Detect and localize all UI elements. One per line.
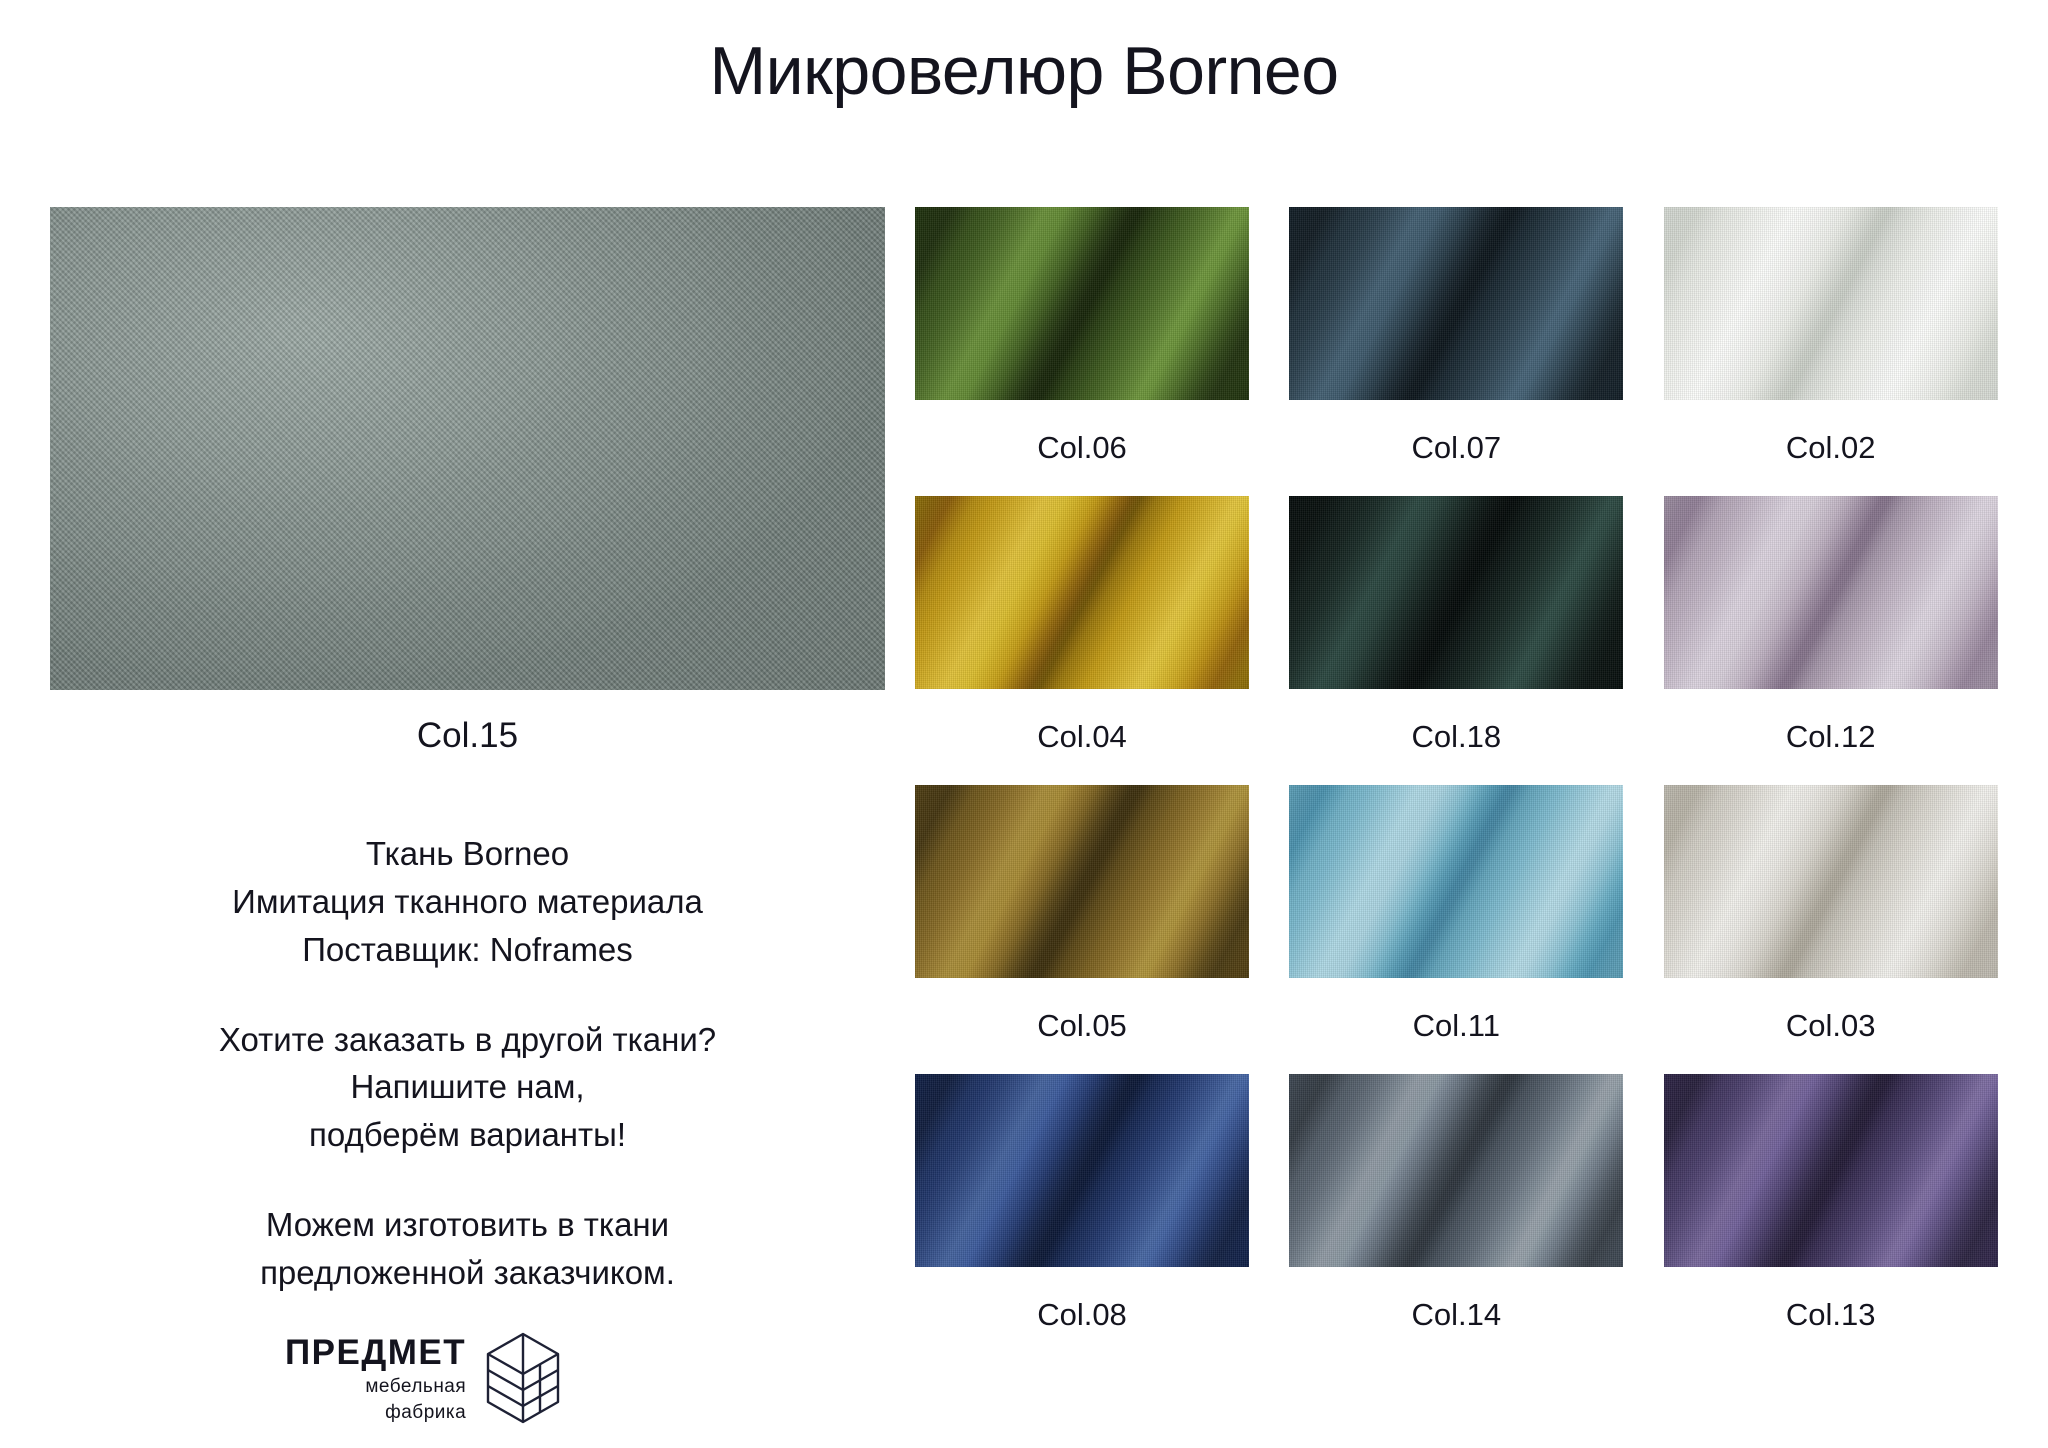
weave-overlay bbox=[1289, 496, 1623, 689]
spacer bbox=[50, 974, 885, 1016]
weave-overlay bbox=[1664, 785, 1998, 978]
weave-overlay bbox=[1289, 207, 1623, 400]
fabric-swatch[interactable] bbox=[1289, 496, 1623, 689]
swatch-cell: Col.03 bbox=[1664, 785, 1998, 1074]
fabric-swatch[interactable] bbox=[915, 207, 1249, 400]
fabric-swatch[interactable] bbox=[1664, 496, 1998, 689]
swatch-cell: Col.08 bbox=[915, 1074, 1249, 1363]
weave-overlay bbox=[915, 785, 1249, 978]
swatch-label: Col.12 bbox=[1664, 689, 1998, 785]
swatch-label: Col.18 bbox=[1289, 689, 1623, 785]
weave-overlay bbox=[1289, 785, 1623, 978]
swatch-label: Col.14 bbox=[1289, 1267, 1623, 1363]
fabric-swatch[interactable] bbox=[915, 1074, 1249, 1267]
weave-overlay bbox=[1664, 1074, 1998, 1267]
description-line-1: Ткань Borneo bbox=[50, 830, 885, 878]
logo-tagline-line-1: мебельная bbox=[285, 1377, 466, 1396]
swatch-cell: Col.06 bbox=[915, 207, 1249, 496]
hero-fabric-swatch[interactable] bbox=[50, 207, 885, 690]
logo-wordmark: ПРЕДМЕТ мебельная фабрика bbox=[285, 1335, 466, 1422]
swatch-cell: Col.11 bbox=[1289, 785, 1623, 1074]
description-line-7: Можем изготовить в ткани bbox=[50, 1201, 885, 1249]
description-line-5: Напишите нам, bbox=[50, 1063, 885, 1111]
swatch-label: Col.06 bbox=[915, 400, 1249, 496]
hero-swatch-label: Col.15 bbox=[50, 716, 885, 756]
description-line-3: Поставщик: Noframes bbox=[50, 926, 885, 974]
description-block: Ткань Borneo Имитация тканного материала… bbox=[50, 830, 885, 1297]
swatch-label: Col.04 bbox=[915, 689, 1249, 785]
fabric-swatch[interactable] bbox=[915, 785, 1249, 978]
swatch-label: Col.07 bbox=[1289, 400, 1623, 496]
swatch-cell: Col.04 bbox=[915, 496, 1249, 785]
fabric-swatch[interactable] bbox=[1289, 1074, 1623, 1267]
fabric-catalog-page: Микровелюр Borneo Col.15 Ткань Borneo Им… bbox=[0, 0, 2048, 1448]
weave-overlay bbox=[915, 207, 1249, 400]
fabric-swatch[interactable] bbox=[1664, 1074, 1998, 1267]
swatch-cell: Col.05 bbox=[915, 785, 1249, 1074]
company-logo: ПРЕДМЕТ мебельная фабрика bbox=[285, 1330, 562, 1426]
swatch-label: Col.11 bbox=[1289, 978, 1623, 1074]
description-line-6: подберём варианты! bbox=[50, 1111, 885, 1159]
description-line-4: Хотите заказать в другой ткани? bbox=[50, 1016, 885, 1064]
weave-overlay bbox=[1664, 207, 1998, 400]
hero-weave-overlay bbox=[50, 207, 885, 690]
fabric-swatch[interactable] bbox=[1289, 207, 1623, 400]
weave-overlay bbox=[1289, 1074, 1623, 1267]
swatch-label: Col.05 bbox=[915, 978, 1249, 1074]
page-title: Микровелюр Borneo bbox=[0, 34, 2048, 109]
logo-tagline-line-2: фабрика bbox=[285, 1403, 466, 1422]
description-line-2: Имитация тканного материала bbox=[50, 878, 885, 926]
logo-brand-name: ПРЕДМЕТ bbox=[285, 1335, 466, 1370]
description-line-8: предложенной заказчиком. bbox=[50, 1249, 885, 1297]
fabric-swatch[interactable] bbox=[1289, 785, 1623, 978]
swatch-cell: Col.07 bbox=[1289, 207, 1623, 496]
weave-overlay bbox=[915, 496, 1249, 689]
swatch-label: Col.13 bbox=[1664, 1267, 1998, 1363]
swatch-cell: Col.13 bbox=[1664, 1074, 1998, 1363]
swatch-cell: Col.14 bbox=[1289, 1074, 1623, 1363]
hero-swatch-block: Col.15 bbox=[50, 207, 885, 756]
swatch-cell: Col.12 bbox=[1664, 496, 1998, 785]
spacer bbox=[50, 1159, 885, 1201]
fabric-swatch[interactable] bbox=[1664, 785, 1998, 978]
swatch-label: Col.02 bbox=[1664, 400, 1998, 496]
isometric-shelf-icon bbox=[484, 1330, 562, 1426]
swatch-cell: Col.18 bbox=[1289, 496, 1623, 785]
fabric-swatch[interactable] bbox=[915, 496, 1249, 689]
swatch-cell: Col.02 bbox=[1664, 207, 1998, 496]
swatch-label: Col.03 bbox=[1664, 978, 1998, 1074]
weave-overlay bbox=[1664, 496, 1998, 689]
swatch-grid: Col.06 Col.07 Col.02 Col.04 Col.18 Col.1… bbox=[915, 207, 1998, 1363]
fabric-swatch[interactable] bbox=[1664, 207, 1998, 400]
swatch-label: Col.08 bbox=[915, 1267, 1249, 1363]
weave-overlay bbox=[915, 1074, 1249, 1267]
